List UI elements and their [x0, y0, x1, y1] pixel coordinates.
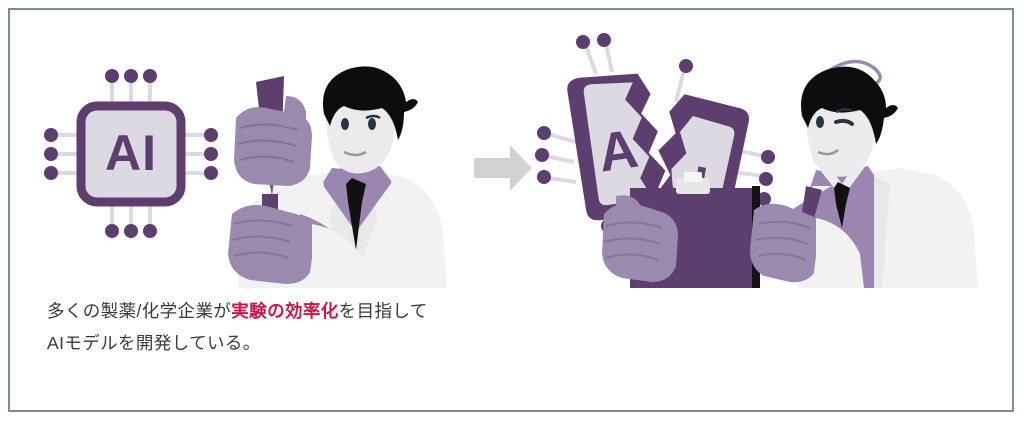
- svg-text:AI: AI: [105, 125, 157, 181]
- slide-canvas: AI: [0, 0, 1024, 422]
- left-caption: 多くの製薬/化学企業が実験の効率化を目指して AIモデルを開発している。: [47, 295, 428, 359]
- scientist-figure-left: [228, 66, 447, 288]
- right-arrow-icon: [472, 142, 534, 194]
- left-illustration: AI: [0, 18, 470, 288]
- svg-text:A: A: [595, 119, 642, 184]
- left-caption-line-1: 多くの製薬/化学企業が実験の効率化を目指して: [47, 295, 428, 327]
- left-caption-line1-before: 多くの製薬/化学企業が: [47, 301, 231, 321]
- left-caption-highlight: 実験の効率化: [231, 301, 338, 321]
- ai-chip-intact-icon: AI: [44, 69, 218, 238]
- right-illustration: A I: [530, 18, 1006, 288]
- left-caption-line1-after: を目指して: [339, 301, 428, 321]
- right-panel: A I: [530, 0, 1006, 422]
- left-panel: AI: [0, 0, 470, 422]
- gloved-hand-upper: [234, 96, 312, 186]
- left-caption-line-2: AIモデルを開発している。: [47, 327, 428, 359]
